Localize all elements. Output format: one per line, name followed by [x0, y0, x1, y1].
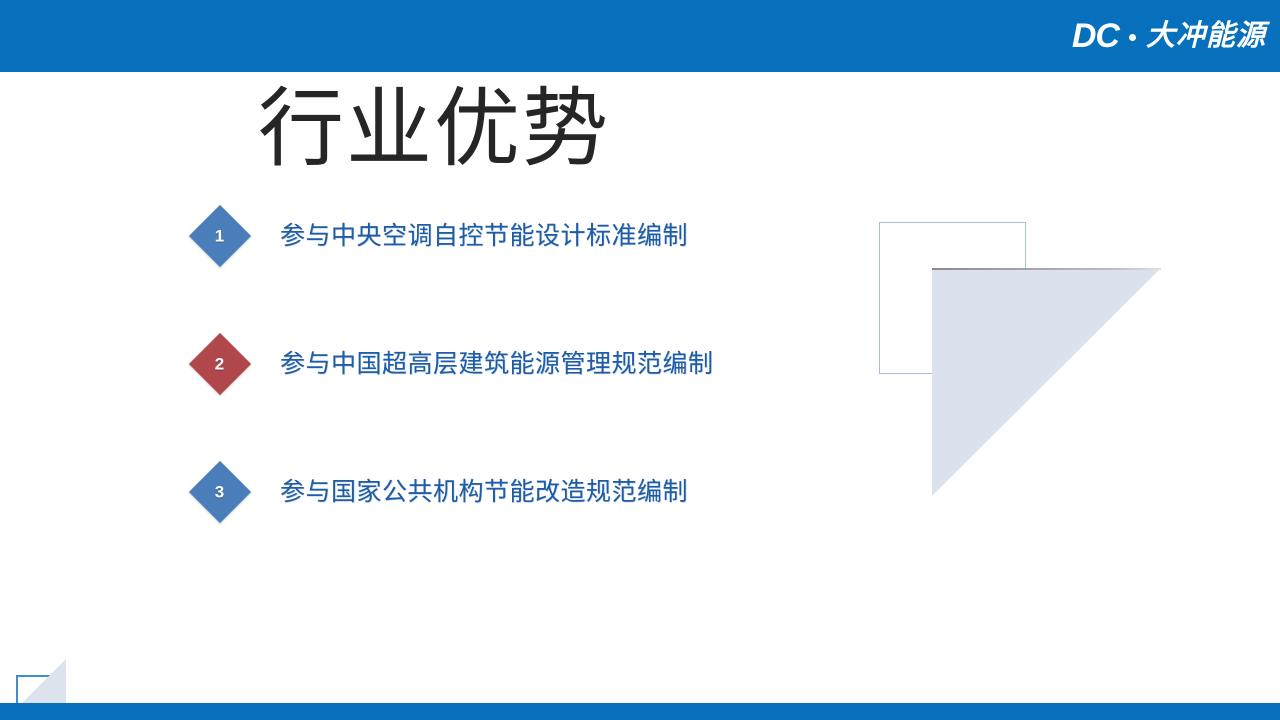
logo-mark: DC — [1072, 19, 1119, 53]
bullet-number-label: 3 — [215, 484, 224, 501]
bullet-number-badge: 3 — [189, 461, 251, 523]
decorative-triangle — [932, 268, 1161, 496]
decorative-triangle-edge — [932, 268, 1161, 270]
bullet-number-label: 1 — [215, 228, 224, 245]
brand-logo: DC 大冲能源 — [1072, 19, 1266, 53]
bullet-text: 参与国家公共机构节能改造规范编制 — [280, 476, 688, 508]
bullet-text: 参与中国超高层建筑能源管理规范编制 — [280, 348, 714, 380]
logo-mark-d: DC — [1072, 19, 1119, 53]
logo-brand-name: 大冲能源 — [1146, 22, 1266, 51]
decorative-triangle-shape — [932, 268, 1161, 496]
advantages-list: 1 参与中央空调自控节能设计标准编制 2 参与中国超高层建筑能源管理规范编制 3… — [198, 214, 878, 598]
footer-bar — [0, 703, 1280, 720]
header-bar: DC 大冲能源 — [0, 0, 1280, 72]
bullet-number-badge: 2 — [189, 333, 251, 395]
bullet-number-label: 2 — [215, 356, 224, 373]
list-item[interactable]: 3 参与国家公共机构节能改造规范编制 — [198, 470, 878, 598]
list-item[interactable]: 1 参与中央空调自控节能设计标准编制 — [198, 214, 878, 342]
bullet-text: 参与中央空调自控节能设计标准编制 — [280, 220, 688, 252]
page-title: 行业优势 — [258, 82, 610, 177]
bullet-number-badge: 1 — [189, 205, 251, 267]
list-item[interactable]: 2 参与中国超高层建筑能源管理规范编制 — [198, 342, 878, 470]
slide-canvas: DC 大冲能源 行业优势 1 参与中央空调自控节能设计标准编制 2 参与中国超高… — [0, 0, 1280, 720]
dot-separator-icon — [1129, 34, 1136, 41]
